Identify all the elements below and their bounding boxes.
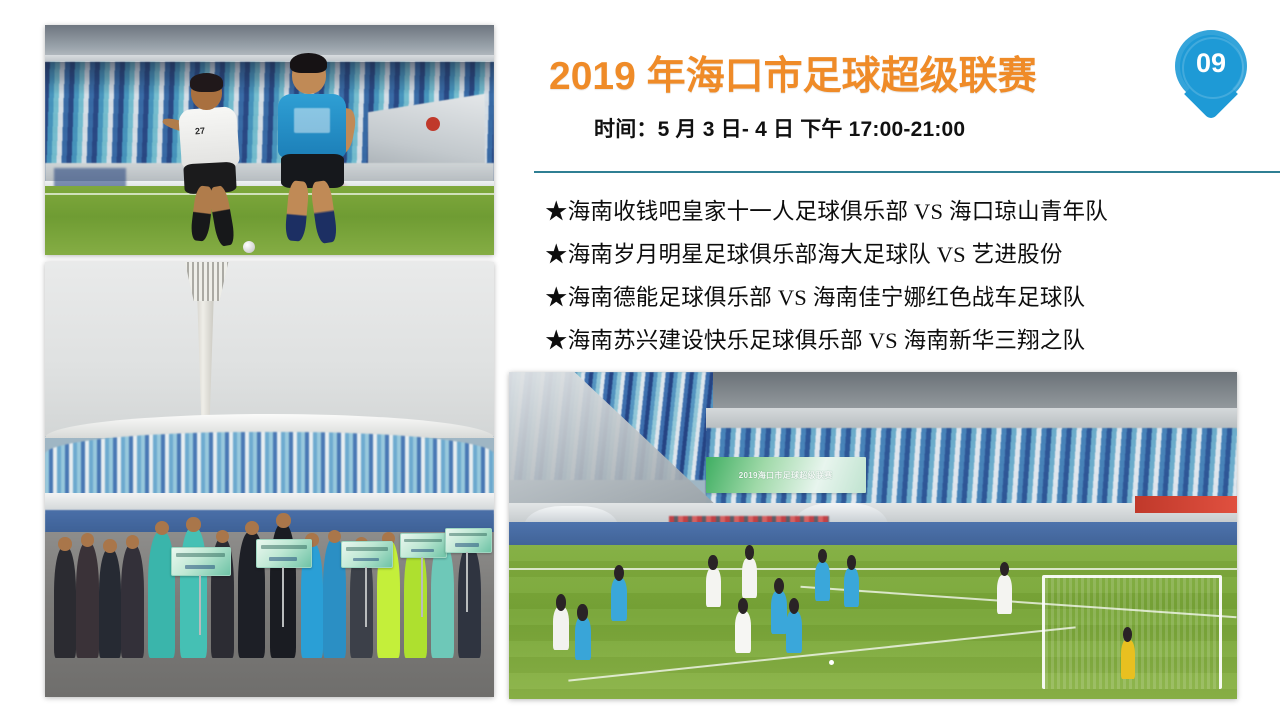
title-row: 2019 年海口市足球超级联赛 xyxy=(549,43,1249,109)
photo3-player-white xyxy=(553,607,569,650)
match-list-item: ★海南岁月明星足球俱乐部海大足球队 VS 艺进股份 xyxy=(545,233,1275,276)
photo-players-duel: 27 xyxy=(45,25,494,255)
photo2-person xyxy=(99,549,121,658)
photo3-player-blue xyxy=(611,578,627,621)
photo3-player-white xyxy=(706,568,721,607)
photo1-stand-shadow xyxy=(45,62,494,94)
photo3-player-blue xyxy=(771,591,787,634)
photo1-pitch xyxy=(45,186,494,255)
photo2-placard-title xyxy=(261,545,306,549)
photo3-player-head xyxy=(556,594,566,610)
photo-match-wide-view: 2019海口市足球超级联赛 xyxy=(509,372,1237,699)
photo2-placard-title xyxy=(176,553,225,557)
photo2-person xyxy=(121,545,143,658)
photo2-placard-subtitle xyxy=(185,565,215,569)
photo3-goalkeeper xyxy=(1121,640,1136,679)
photo3-advert-board xyxy=(1135,496,1237,512)
photo3-banner-text: 2019海口市足球超级联赛 xyxy=(739,470,833,481)
photo2-person-head xyxy=(126,535,139,548)
photo2-team-placard xyxy=(445,528,492,553)
slide-canvas: 27 xyxy=(0,0,1280,720)
photo3-player-white xyxy=(997,575,1012,614)
photo1-blue-player-hair xyxy=(290,53,327,74)
photo2-person-head xyxy=(58,537,71,550)
photo2-placard-title xyxy=(449,533,487,537)
section-divider xyxy=(534,171,1280,173)
page-title: 2019 年海口市足球超级联赛 xyxy=(549,57,1037,96)
photo2-team-placard xyxy=(256,539,312,568)
photo3-player-white xyxy=(735,611,752,654)
photo2-person-head xyxy=(186,517,200,531)
photo3-player-blue xyxy=(844,568,859,607)
photo1-pitch-line xyxy=(45,193,494,195)
photo2-placard-subtitle xyxy=(411,549,434,552)
photo2-placard-title xyxy=(404,539,442,543)
match-list-item: ★海南苏兴建设快乐足球俱乐部 VS 海南新华三翔之队 xyxy=(545,319,1275,362)
photo2-person-head xyxy=(276,513,290,527)
photo3-player-blue xyxy=(815,562,830,601)
photo3-player-head xyxy=(738,598,748,614)
photo1-soccer-ball xyxy=(243,241,255,253)
photo2-person-head xyxy=(81,533,94,546)
photo3-player-head xyxy=(708,555,717,570)
photo1-blue-player-shorts xyxy=(281,154,344,189)
event-info-panel: 2019 年海口市足球超级联赛 09 时间：5 月 3 日- 4 日 下午 17… xyxy=(509,25,1280,365)
photo2-participants-row xyxy=(45,466,494,657)
photo1-white-player-hair xyxy=(190,73,223,91)
photo2-placard-title xyxy=(346,547,387,551)
venue-number-label: 09 xyxy=(1175,48,1247,79)
photo2-person xyxy=(431,543,453,658)
photo1-blue-player-chest-logo xyxy=(294,108,330,133)
photo2-team-placard xyxy=(341,541,392,568)
photo-opening-ceremony xyxy=(45,262,494,697)
photo3-player-head xyxy=(789,598,799,614)
photo2-team-placard xyxy=(171,547,231,576)
venue-badge[interactable]: 09 xyxy=(1175,30,1247,134)
photo3-player-white xyxy=(742,558,757,597)
photo2-sky xyxy=(45,262,494,436)
match-list: ★海南收钱吧皇家十一人足球俱乐部 VS 海口琼山青年队 ★海南岁月明星足球俱乐部… xyxy=(545,190,1275,362)
photo2-person-head xyxy=(216,530,229,543)
match-list-item: ★海南德能足球俱乐部 VS 海南佳宁娜红色战车足球队 xyxy=(545,276,1275,319)
photo2-person xyxy=(76,543,98,658)
photo1-white-player-number: 27 xyxy=(195,126,206,137)
photo3-player-blue xyxy=(786,611,802,654)
photo3-goalkeeper-head xyxy=(1123,627,1132,642)
photo2-person-head xyxy=(103,539,116,552)
photo1-white-player-jersey xyxy=(178,106,240,170)
match-list-item: ★海南收钱吧皇家十一人足球俱乐部 VS 海口琼山青年队 xyxy=(545,190,1275,233)
photo2-person xyxy=(54,547,76,658)
photo2-team-placard xyxy=(400,533,447,558)
photo3-player-blue xyxy=(575,617,591,660)
event-datetime-label: 时间：5 月 3 日- 4 日 下午 17:00-21:00 xyxy=(594,113,965,143)
photo3-player-head xyxy=(847,555,856,570)
photo2-person xyxy=(458,547,480,658)
photo2-placard-subtitle xyxy=(353,558,379,561)
photo3-event-banner: 2019海口市足球超级联赛 xyxy=(706,457,866,493)
photo2-placard-subtitle xyxy=(455,543,478,546)
photo2-placard-subtitle xyxy=(269,557,297,561)
photo3-player-head xyxy=(577,604,587,620)
